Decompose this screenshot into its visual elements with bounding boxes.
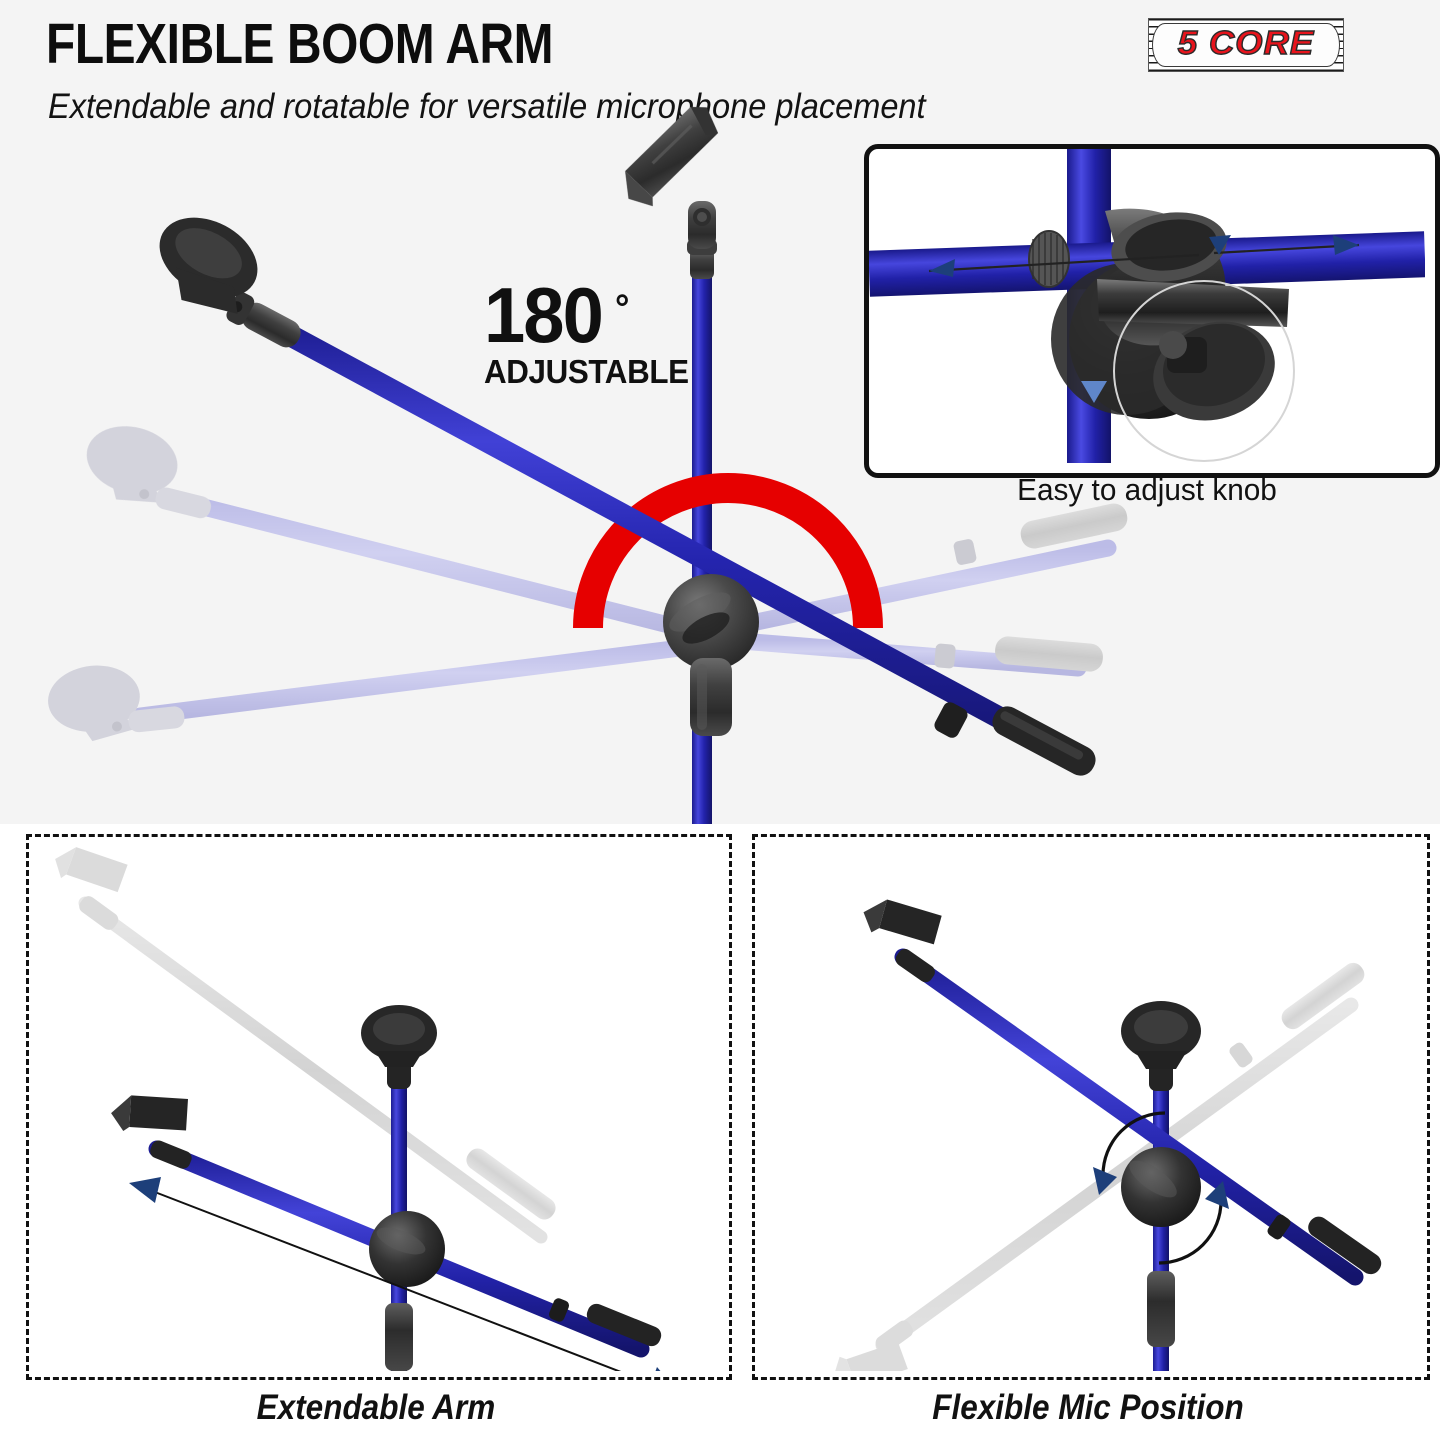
boom-mic-clip [850, 878, 964, 985]
pivot-hub [369, 1211, 445, 1287]
mic-clip-on-pole [361, 1005, 437, 1089]
panel-flexible-mic-position [752, 834, 1430, 1380]
knob-closeup-illustration [869, 149, 1425, 463]
ghost-rotated-arm [827, 959, 1369, 1371]
ghost-extended-arm [39, 837, 559, 1237]
panel-caption-flexible-mic-position: Flexible Mic Position [786, 1388, 1391, 1428]
mic-clip-on-pole [1121, 1001, 1201, 1091]
boom-counterweight-end [932, 700, 1100, 781]
flexible-mic-illustration [755, 837, 1421, 1371]
pole-base-sleeve [1147, 1271, 1175, 1347]
degree-symbol: ° [615, 272, 628, 346]
infographic-page: FLEXIBLE BOOM ARM Extendable and rotatab… [0, 0, 1440, 1440]
knob-closeup-inset [864, 144, 1440, 478]
ghost-arm-lower-left [45, 644, 712, 745]
angle-label: ADJUSTABLE [484, 354, 689, 390]
extendable-arm-illustration [29, 837, 723, 1371]
pole-base-sleeve [385, 1303, 413, 1371]
microphone-clip-holder [604, 100, 736, 279]
pivot-hub-knob [663, 574, 759, 736]
knurled-ring [1029, 231, 1069, 287]
panel-extendable-arm [26, 834, 732, 1380]
panel-caption-extendable-arm: Extendable Arm [61, 1388, 691, 1428]
angle-value: 180° [484, 278, 602, 352]
knob-inset-caption: Easy to adjust knob [875, 472, 1418, 508]
hero-section: FLEXIBLE BOOM ARM Extendable and rotatab… [0, 0, 1440, 824]
angle-callout: 180° ADJUSTABLE [484, 278, 699, 390]
pivot-hub [1121, 1147, 1201, 1227]
